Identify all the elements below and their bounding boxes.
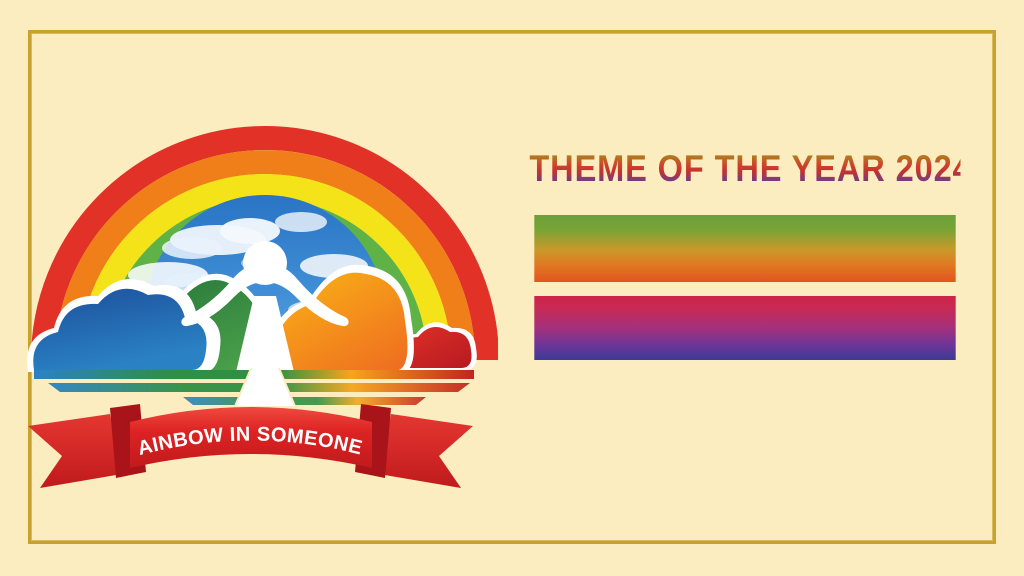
ribbon-tail-right: [379, 414, 473, 488]
poster-text-block: THEME OF THE YEAR 2024 BE A RAINBOW IN S…: [500, 150, 990, 420]
headline-line-2: IN SOMEONE’S LIFE: [534, 296, 955, 359]
poster-canvas: BE A RAINBOW IN SOMEONE’S LIFE THEME OF …: [0, 0, 1024, 576]
ribbon-tail-left: [28, 414, 122, 488]
kicker-theme-of-the-year: THEME OF THE YEAR 2024: [529, 150, 960, 187]
rainbow-logo: BE A RAINBOW IN SOMEONE’S LIFE: [18, 70, 498, 510]
headline-line-1: BE A RAINBOW: [534, 215, 955, 282]
ground-lines: [34, 368, 474, 406]
